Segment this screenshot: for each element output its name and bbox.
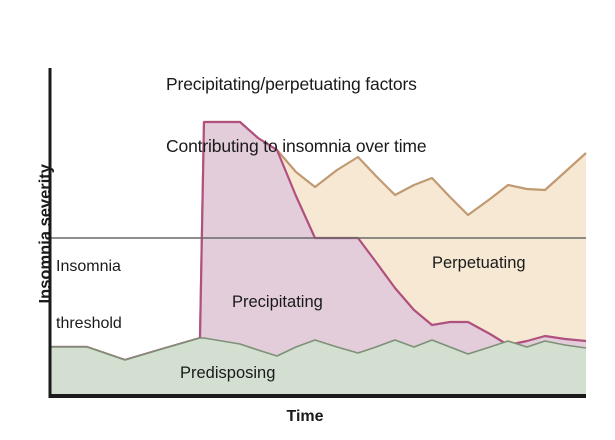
- insomnia-severity-chart: Precipitating/perpetuating factors Contr…: [0, 0, 615, 440]
- area-label-perpetuating: Perpetuating: [432, 254, 526, 273]
- y-axis-label: Insomnia severity: [36, 144, 55, 324]
- chart-title: Precipitating/perpetuating factors Contr…: [166, 33, 426, 198]
- threshold-label-line-1: Insomnia: [56, 258, 122, 277]
- chart-title-line-1: Precipitating/perpetuating factors: [166, 74, 426, 95]
- area-predisposing-group: [50, 338, 586, 396]
- area-label-precipitating: Precipitating: [232, 293, 323, 312]
- threshold-label-line-2: threshold: [56, 315, 122, 334]
- area-predisposing-fill: [50, 338, 586, 396]
- chart-title-line-2: Contributing to insomnia over time: [166, 136, 426, 157]
- area-label-predisposing: Predisposing: [180, 364, 275, 383]
- x-axis-label: Time: [235, 408, 375, 427]
- insomnia-threshold-label: Insomnia threshold: [56, 220, 122, 372]
